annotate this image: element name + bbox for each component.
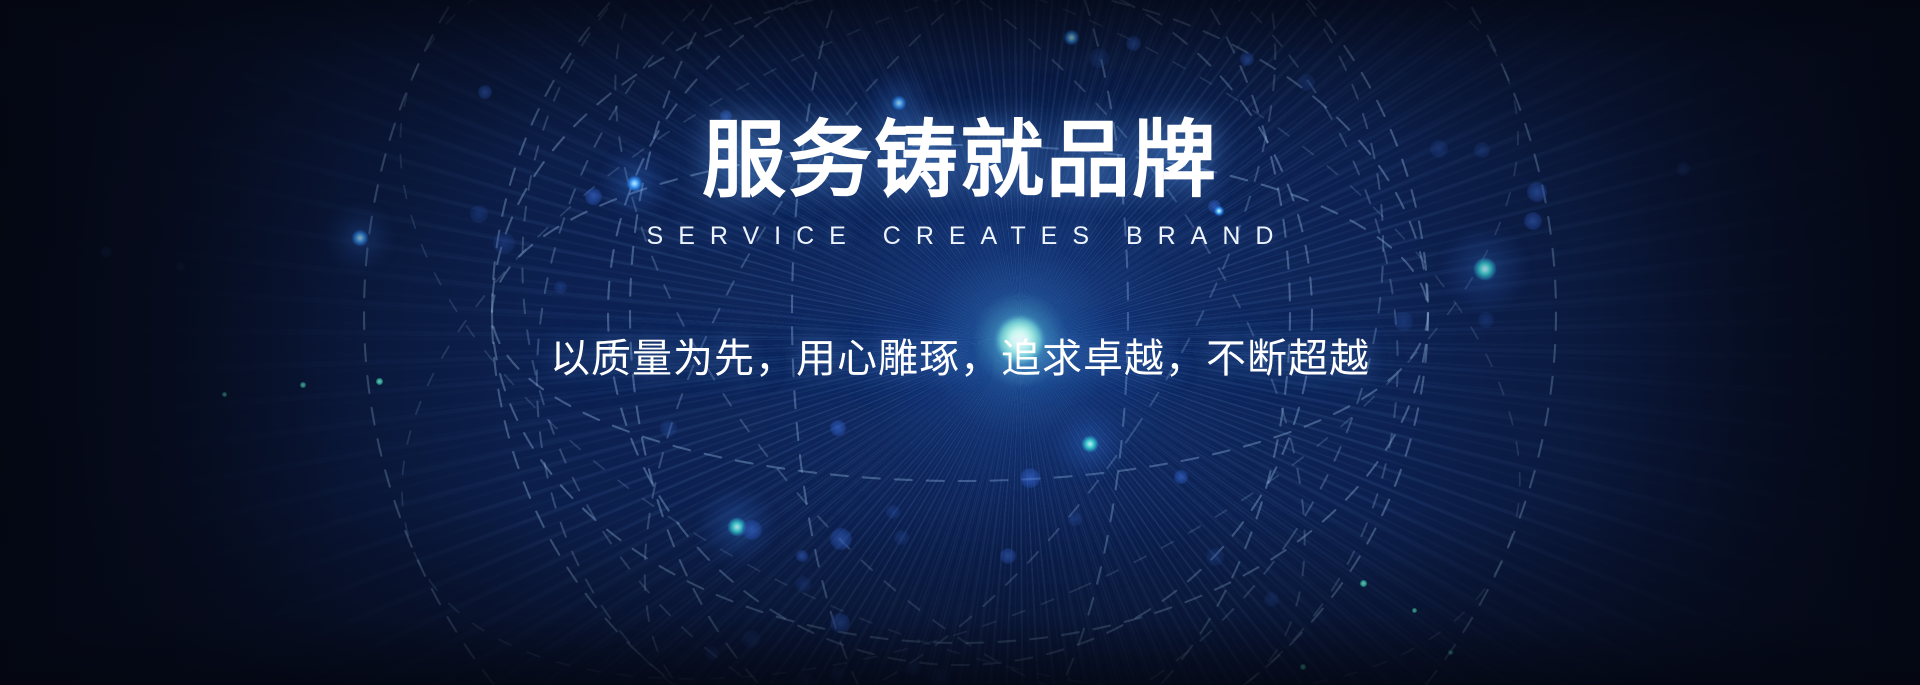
banner-content: 服务铸就品牌 SERVICE CREATES BRAND 以质量为先，用心雕琢，… [0,0,1920,685]
hero-banner: 服务铸就品牌 SERVICE CREATES BRAND 以质量为先，用心雕琢，… [0,0,1920,685]
banner-subtitle: SERVICE CREATES BRAND [632,224,1289,249]
banner-tagline: 以质量为先，用心雕琢，追求卓越，不断超越 [550,337,1370,381]
banner-headline: 服务铸就品牌 [702,118,1218,202]
